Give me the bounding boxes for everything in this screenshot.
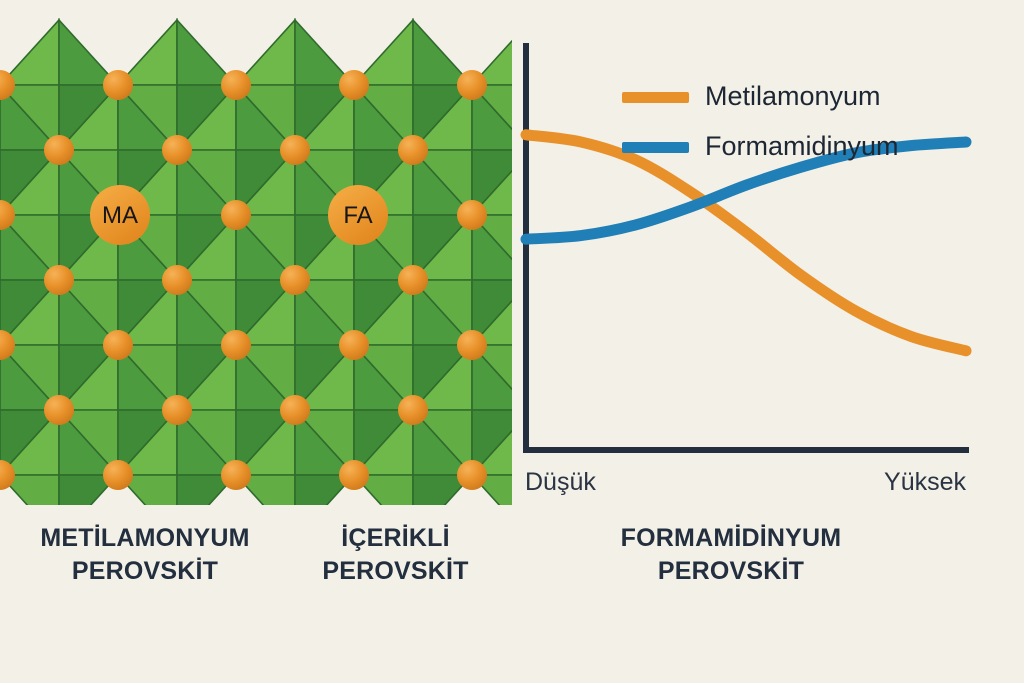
legend-swatch-formamidinyum (622, 142, 689, 153)
x-axis-label-high: Yüksek (884, 468, 966, 496)
halide-sphere (280, 265, 310, 295)
halide-sphere (457, 330, 487, 360)
legend-label-metilamonyum: Metilamonyum (705, 81, 881, 111)
caption-ma-line2: PEROVSKİT (0, 555, 290, 588)
octahedra-group (0, 20, 512, 505)
halide-sphere (457, 460, 487, 490)
halide-sphere (457, 70, 487, 100)
halide-sphere (162, 395, 192, 425)
legend-swatch-metilamonyum (622, 92, 689, 103)
halide-sphere (398, 265, 428, 295)
chart-plot-area: Metilamonyum Formamidinyum Düşük Yüksek (505, 30, 1024, 500)
halide-sphere (339, 330, 369, 360)
cation-fa: FA (328, 185, 388, 245)
halide-sphere (221, 200, 251, 230)
caption-fa-line1: FORMAMİDİNYUM (516, 522, 946, 555)
caption-mixed-perovskite: İÇERİKLİ PEROVSKİT (288, 522, 503, 588)
halide-sphere (339, 460, 369, 490)
halide-sphere (103, 70, 133, 100)
halide-sphere (44, 135, 74, 165)
halide-sphere (221, 70, 251, 100)
cation-ma: MA (90, 185, 150, 245)
halide-sphere (339, 70, 369, 100)
halide-sphere (162, 135, 192, 165)
perovskite-lattice-panel: MAFA (0, 0, 512, 505)
caption-mixed-line2: PEROVSKİT (288, 555, 503, 588)
x-axis-label-low: Düşük (525, 468, 596, 496)
series-line-metilamonyum (526, 135, 966, 351)
halide-sphere (103, 460, 133, 490)
halide-sphere (44, 395, 74, 425)
halide-sphere (398, 135, 428, 165)
caption-formamidinium-perovskite: FORMAMİDİNYUM PEROVSKİT (516, 522, 946, 588)
halide-sphere (44, 265, 74, 295)
stability-comparison-chart: Metilamonyum Formamidinyum Düşük Yüksek (505, 30, 1024, 500)
lattice-illustration: MAFA (0, 0, 512, 505)
caption-ma-line1: METİLAMONYUM (0, 522, 290, 555)
diagram-canvas: MAFA Metilamonyum Formamidinyum Düşük Yü… (0, 0, 1024, 683)
halide-sphere (457, 200, 487, 230)
caption-mixed-line1: İÇERİKLİ (288, 522, 503, 555)
halide-sphere (221, 330, 251, 360)
caption-fa-line2: PEROVSKİT (516, 555, 946, 588)
chart-legend: Metilamonyum Formamidinyum (622, 81, 899, 161)
halide-sphere (103, 330, 133, 360)
cation-label-fa: FA (343, 202, 372, 229)
halide-sphere (280, 135, 310, 165)
cation-label-ma: MA (102, 202, 138, 229)
halide-sphere (221, 460, 251, 490)
caption-methylammonium-perovskite: METİLAMONYUM PEROVSKİT (0, 522, 290, 588)
legend-label-formamidinyum: Formamidinyum (705, 131, 899, 161)
halide-sphere (280, 395, 310, 425)
halide-sphere (398, 395, 428, 425)
halide-sphere (162, 265, 192, 295)
